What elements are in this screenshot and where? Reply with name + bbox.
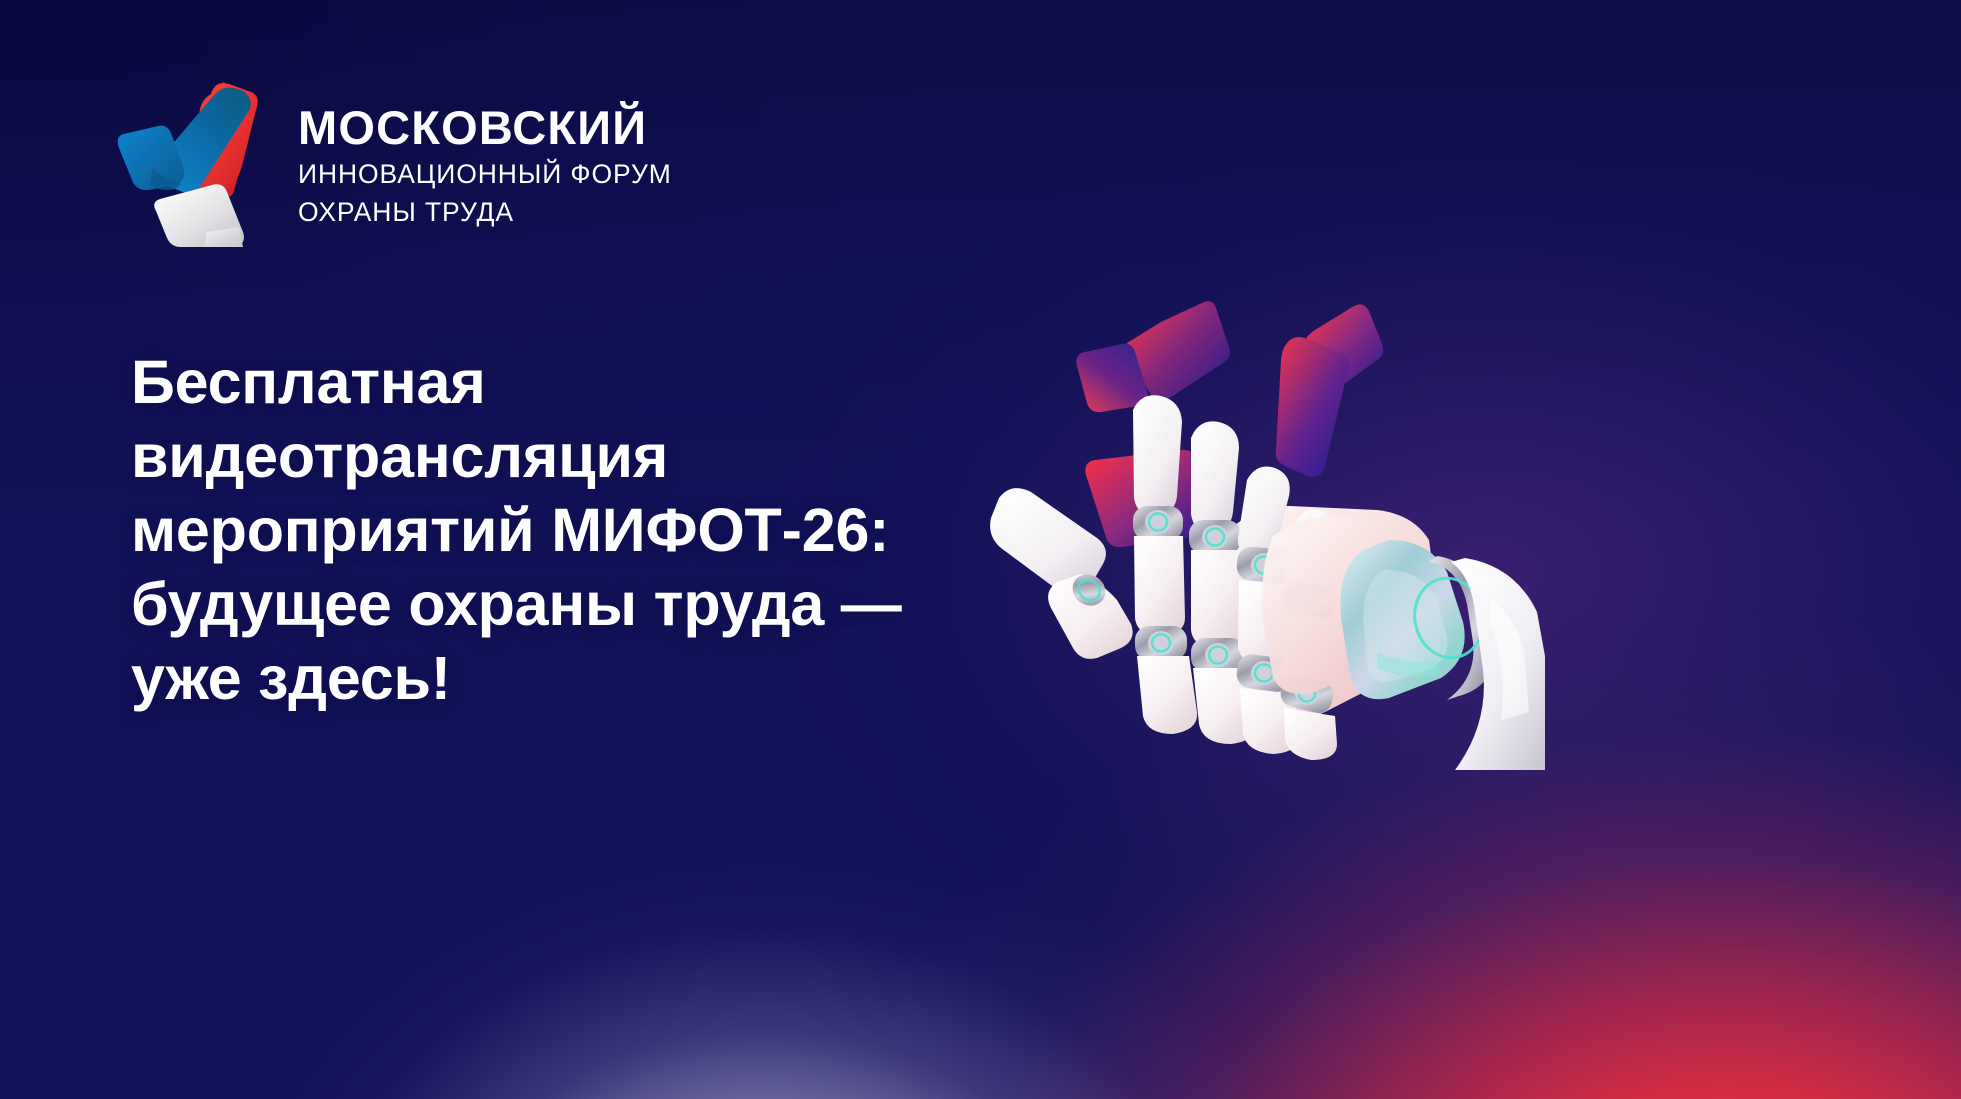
headline-line-4: будущее охраны труда — bbox=[131, 567, 1011, 641]
headline: Бесплатная видеотрансляция мероприятий М… bbox=[131, 345, 1011, 716]
logo-line-2: ИННОВАЦИОННЫЙ ФОРУМ bbox=[298, 158, 672, 192]
headline-line-5: уже здесь! bbox=[131, 641, 1011, 715]
robot-hand-body bbox=[990, 395, 1545, 770]
headline-line-3: мероприятий МИФОТ-26: bbox=[131, 493, 1011, 567]
logo[interactable]: МОСКОВСКИЙ ИННОВАЦИОННЫЙ ФОРУМ ОХРАНЫ ТР… bbox=[103, 72, 672, 247]
logo-line-1: МОСКОВСКИЙ bbox=[298, 105, 672, 151]
logo-mark-icon bbox=[103, 72, 275, 247]
headline-line-1: Бесплатная bbox=[131, 345, 1011, 419]
logo-wordmark: МОСКОВСКИЙ ИННОВАЦИОННЫЙ ФОРУМ ОХРАНЫ ТР… bbox=[298, 72, 672, 230]
robot-index-finger bbox=[1133, 395, 1197, 734]
banner-canvas: МОСКОВСКИЙ ИННОВАЦИОННЫЙ ФОРУМ ОХРАНЫ ТР… bbox=[0, 0, 1961, 1099]
logo-line-3: ОХРАНЫ ТРУДА bbox=[298, 196, 672, 230]
headline-line-2: видеотрансляция bbox=[131, 419, 1011, 493]
robot-hand-illustration bbox=[985, 300, 1545, 770]
